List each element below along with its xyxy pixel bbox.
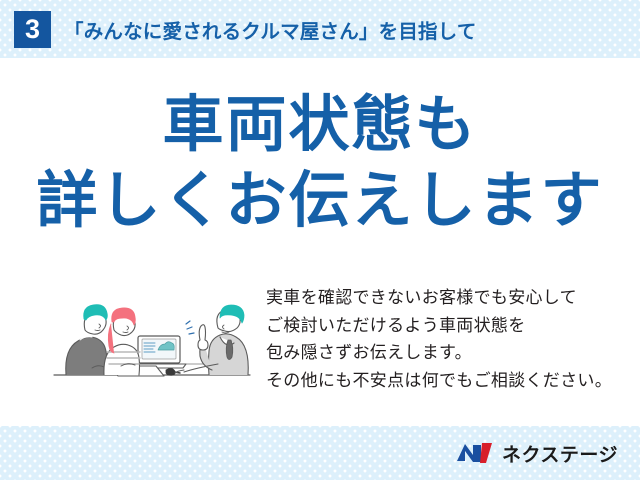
section-number-badge: 3 — [14, 11, 51, 48]
body-copy-line-4: その他にも不安点は何でもご相談ください。 — [266, 367, 626, 395]
nextage-n-mark-icon — [456, 441, 494, 465]
brand-logo-text: ネクステージ — [502, 440, 618, 467]
header-title: 「みんなに愛されるクルマ屋さん」を目指して — [64, 15, 477, 44]
headline-line-1: 車両状態も — [0, 90, 640, 158]
headline: 車両状態も 詳しくお伝えします — [0, 90, 640, 235]
body-copy-line-1: 実車を確認できないお客様でも安心して — [266, 284, 626, 312]
advertisement-poster: 3 「みんなに愛されるクルマ屋さん」を目指して 車両状態も 詳しくお伝えします — [0, 0, 640, 480]
content-row: 実車を確認できないお客様でも安心して ご検討いただけるよう車両状態を 包み隠さず… — [0, 276, 640, 406]
body-copy-line-2: ご検討いただけるよう車両状態を — [266, 312, 626, 340]
consultation-illustration — [52, 278, 252, 394]
headline-line-2: 詳しくお伝えします — [0, 166, 640, 234]
body-copy: 実車を確認できないお客様でも安心して ご検討いただけるよう車両状態を 包み隠さず… — [266, 284, 626, 394]
brand-logo: ネクステージ — [456, 438, 618, 468]
body-copy-line-3: 包み隠さずお伝えします。 — [266, 339, 626, 367]
header: 3 「みんなに愛されるクルマ屋さん」を目指して — [0, 0, 640, 58]
